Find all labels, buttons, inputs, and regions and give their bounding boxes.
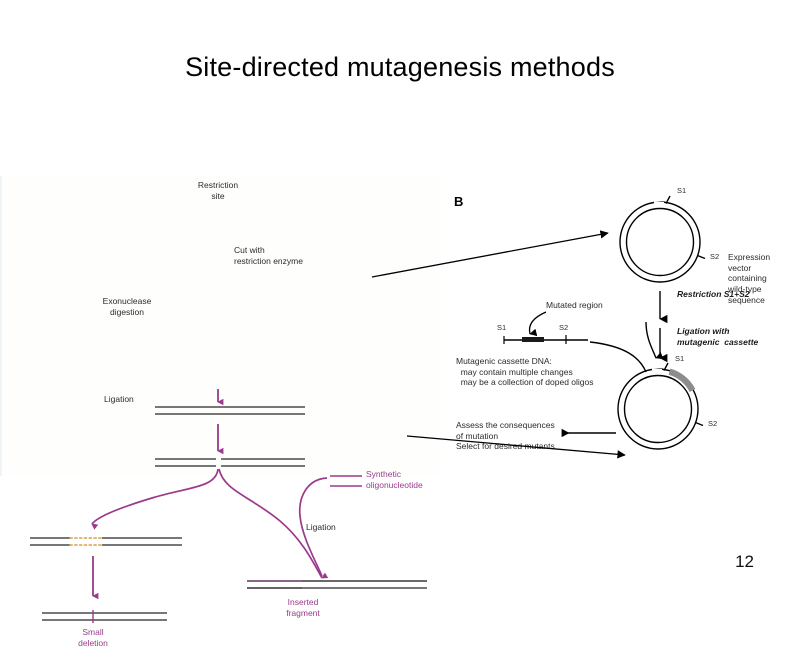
label-s2-top: S2 bbox=[710, 252, 719, 261]
label-s2-bottom: S2 bbox=[708, 419, 717, 428]
dna-duplex-small-deletion bbox=[42, 610, 167, 623]
label-small-deletion: Small deletion bbox=[60, 627, 126, 648]
synthetic-oligo-bars bbox=[330, 476, 362, 486]
label-cassette-s1: S1 bbox=[497, 323, 506, 332]
ligation-step-arrow-curve bbox=[646, 322, 656, 358]
label-s1-top: S1 bbox=[677, 186, 686, 195]
label-ligation-step: Ligation with mutagenic cassette bbox=[677, 326, 758, 347]
label-inserted-fragment: Inserted fragment bbox=[270, 597, 336, 618]
mutated-region-pointer bbox=[530, 312, 546, 334]
panel-a-graphics bbox=[2, 176, 442, 476]
page-number: 12 bbox=[735, 552, 754, 572]
exonuclease-branch-curve bbox=[92, 469, 218, 524]
label-restriction-site: Restriction site bbox=[186, 180, 250, 201]
dna-duplex-intact bbox=[155, 407, 305, 414]
figure-container: Restriction site Cut with restriction en… bbox=[0, 176, 800, 476]
label-mutated-region: Mutated region bbox=[546, 300, 603, 311]
dna-duplex-cut bbox=[155, 459, 305, 466]
panel-a-deletion-insertion: Restriction site Cut with restriction en… bbox=[0, 176, 440, 476]
dna-duplex-inserted-fragment bbox=[247, 581, 427, 588]
label-s1-bottom: S1 bbox=[675, 354, 684, 363]
label-ligation-right: Ligation bbox=[306, 522, 336, 533]
label-assess-consequences: Assess the consequences of mutation Sele… bbox=[456, 420, 555, 452]
panel-b-cassette-mutagenesis: B bbox=[440, 176, 800, 476]
plasmid-wildtype bbox=[620, 196, 705, 282]
page-title: Site-directed mutagenesis methods bbox=[0, 52, 800, 83]
label-mutagenic-cassette: Mutagenic cassette DNA: may contain mult… bbox=[456, 356, 594, 388]
mutagenic-cassette-dna bbox=[504, 335, 588, 344]
digested-gap-dots bbox=[70, 538, 102, 545]
inserted-cassette-segment bbox=[670, 372, 693, 391]
label-cassette-s2: S2 bbox=[559, 323, 568, 332]
label-cut-with-enzyme: Cut with restriction enzyme bbox=[234, 245, 303, 266]
label-synthetic-oligonucleotide: Synthetic oligonucleotide bbox=[366, 469, 423, 490]
label-restriction-step: Restriction S1+S2 bbox=[677, 289, 750, 300]
plasmid-mutant bbox=[618, 363, 703, 449]
label-ligation-left: Ligation bbox=[104, 394, 134, 405]
label-exonuclease-digestion: Exonuclease digestion bbox=[85, 296, 169, 317]
dna-duplex-digested bbox=[30, 538, 182, 545]
cassette-to-plasmid-curve bbox=[590, 342, 646, 372]
